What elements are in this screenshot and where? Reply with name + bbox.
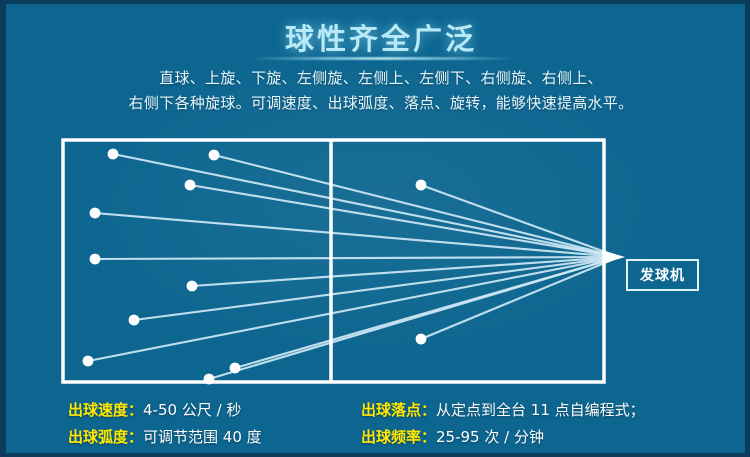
spec-list: 出球速度：4-50 公尺 / 秒 出球弧度：可调节范围 40 度 出球落点：从定…	[6, 397, 750, 453]
landing-point-dots	[83, 149, 427, 385]
trajectory-line-4	[421, 185, 619, 257]
spec-value-speed: 4-50 公尺 / 秒	[143, 401, 241, 419]
landing-dot-1	[108, 149, 119, 160]
trajectory-line-3	[190, 185, 619, 257]
poster-canvas: 球性齐全广泛 直球、上旋、下旋、左侧旋、左侧上、左侧下、右侧旋、右侧上、 右侧下…	[0, 0, 750, 457]
spec-row-arc: 出球弧度：可调节范围 40 度	[68, 424, 262, 451]
landing-dot-12	[204, 374, 215, 385]
ball-machine-label: 发球机	[640, 265, 685, 285]
spec-row-frequency: 出球频率：25-95 次 / 分钟	[361, 424, 645, 451]
table-outline	[63, 140, 604, 382]
spec-value-arc: 可调节范围 40 度	[143, 428, 262, 446]
ball-machine-label-box: 发球机	[626, 259, 699, 291]
spec-value-frequency: 25-95 次 / 分钟	[436, 428, 544, 446]
landing-dot-11	[230, 363, 241, 374]
machine-arrow-icon	[605, 251, 625, 263]
spec-row-landing: 出球落点：从定点到全台 11 点自编程式；	[361, 397, 645, 424]
landing-dot-6	[90, 254, 101, 265]
landing-dot-4	[416, 180, 427, 191]
trajectory-line-2	[214, 155, 619, 257]
trajectory-line-5	[95, 213, 619, 257]
spec-value-landing: 从定点到全台 11 点自编程式；	[436, 401, 645, 419]
trajectory-line-1	[113, 154, 619, 257]
landing-dot-8	[129, 315, 140, 326]
trajectory-line-6	[95, 257, 619, 259]
trajectory-line-8	[134, 257, 619, 320]
arrow-head-icon	[605, 251, 625, 263]
spec-column-right: 出球落点：从定点到全台 11 点自编程式； 出球频率：25-95 次 / 分钟	[361, 397, 645, 451]
landing-dot-10	[83, 356, 94, 367]
trajectory-line-7	[192, 257, 619, 286]
trajectory-lines	[88, 154, 619, 379]
trajectory-diagram	[6, 4, 750, 457]
table-border	[63, 140, 604, 382]
landing-dot-5	[90, 208, 101, 219]
spec-label-frequency: 出球频率：	[361, 428, 436, 446]
spec-label-landing: 出球落点：	[361, 401, 436, 419]
trajectory-line-10	[88, 257, 619, 361]
spec-column-left: 出球速度：4-50 公尺 / 秒 出球弧度：可调节范围 40 度	[68, 397, 262, 451]
spec-row-speed: 出球速度：4-50 公尺 / 秒	[68, 397, 262, 424]
spec-label-speed: 出球速度：	[68, 401, 143, 419]
trajectory-line-12	[209, 257, 619, 379]
landing-dot-7	[187, 281, 198, 292]
landing-dot-9	[416, 334, 427, 345]
spec-label-arc: 出球弧度：	[68, 428, 143, 446]
landing-dot-2	[209, 150, 220, 161]
landing-dot-3	[185, 180, 196, 191]
